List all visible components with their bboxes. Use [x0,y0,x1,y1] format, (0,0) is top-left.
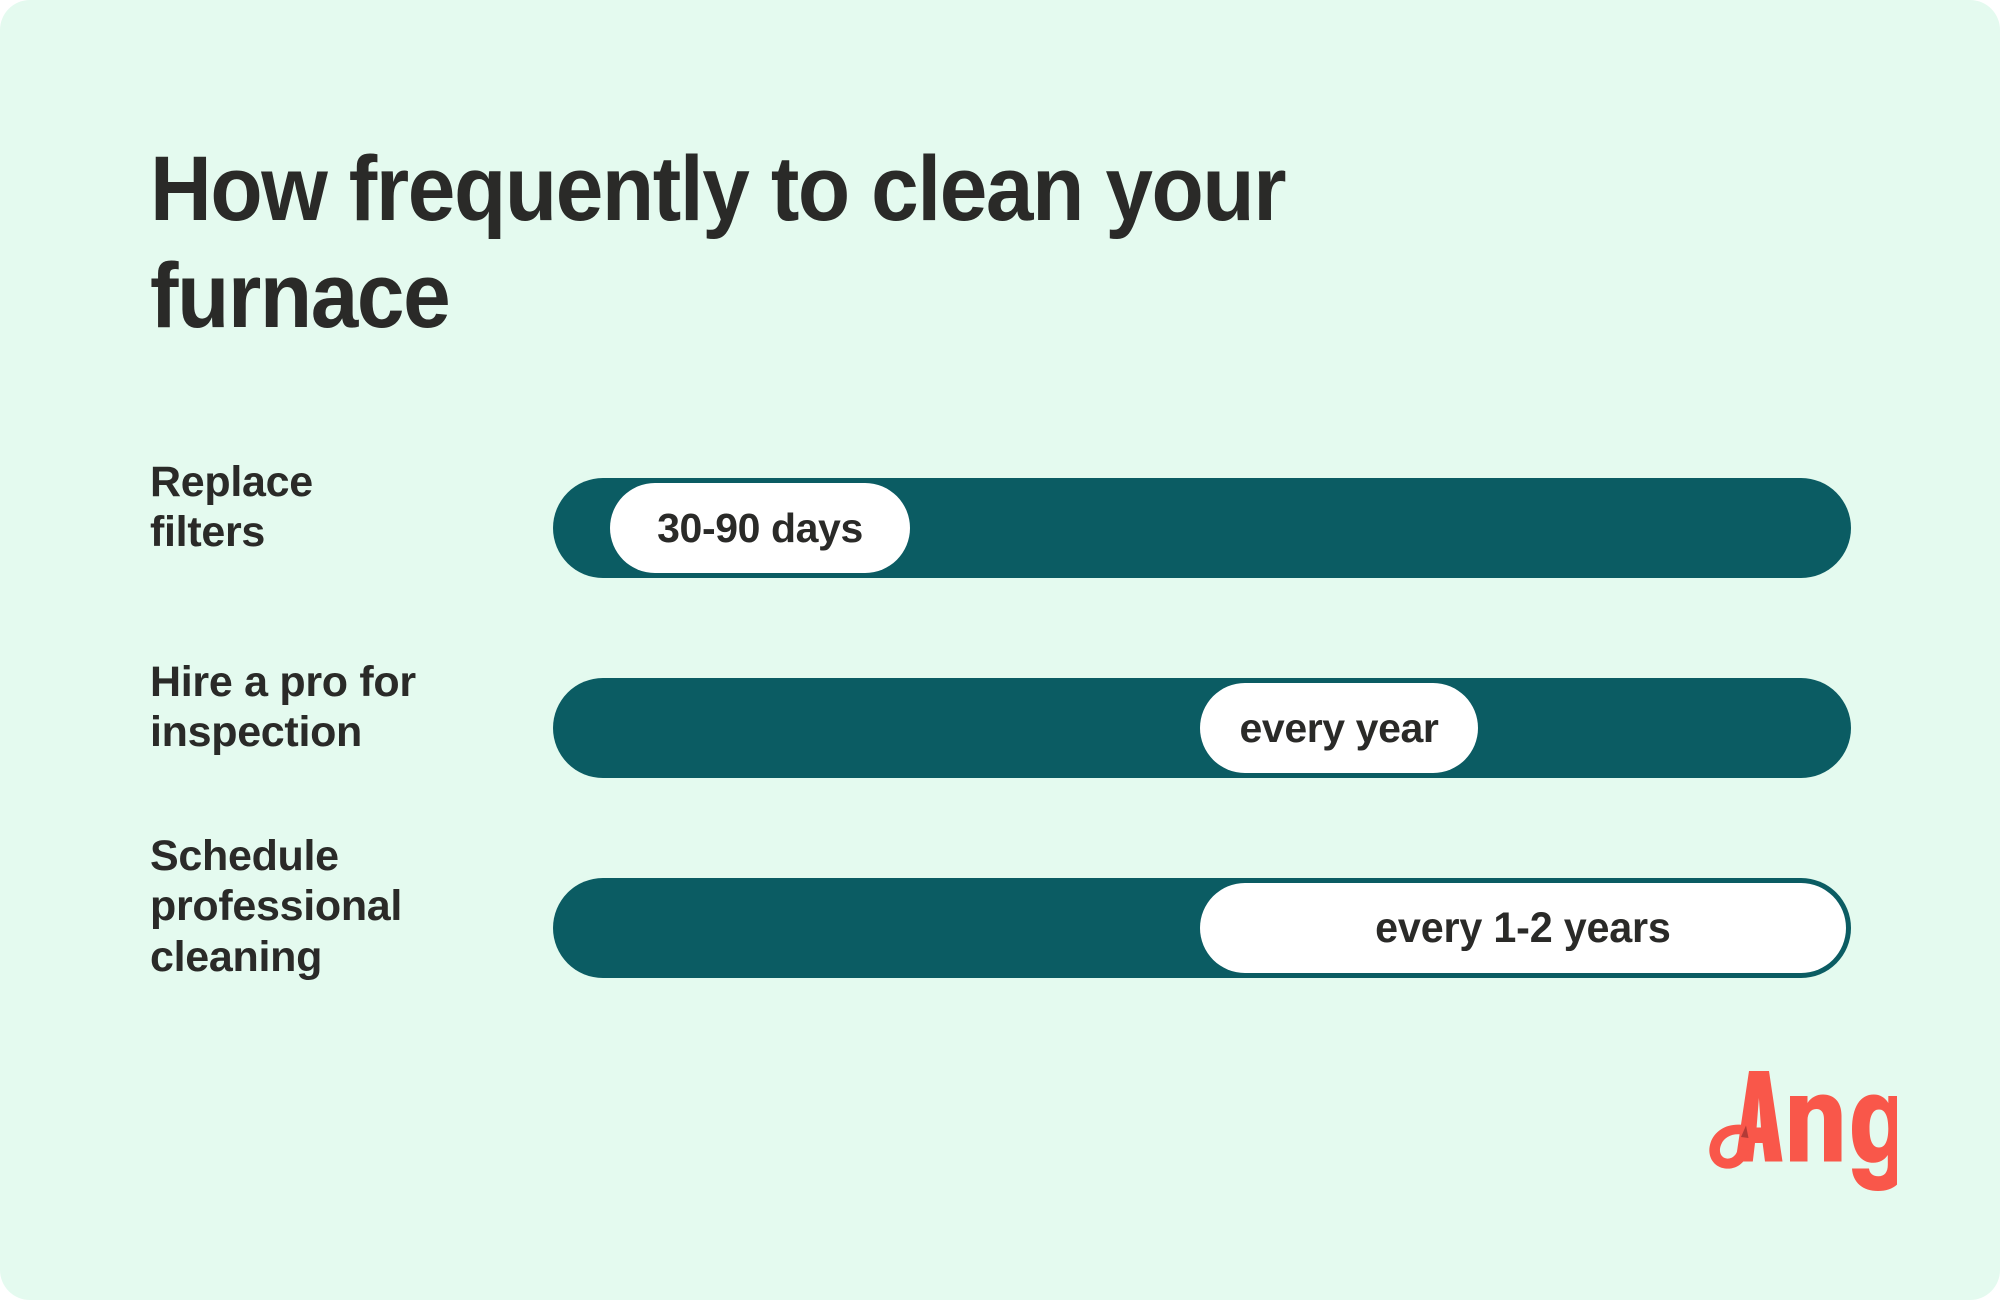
row-label: Schedule professional cleaning [150,831,520,982]
bar-value-pill: 30-90 days [610,483,910,573]
chart-row-replace-filters: Replace filters 30-90 days [0,478,2000,578]
infographic-canvas: How frequently to clean your furnace Rep… [0,0,2000,1300]
row-label: Replace filters [150,457,520,558]
angi-logo [1697,1065,1897,1195]
bar-value-text: every year [1240,705,1439,752]
row-label: Hire a pro for inspection [150,657,520,758]
bar-track: every year [553,678,1851,778]
bar-track: every 1-2 years [553,878,1851,978]
bar-value-text: every 1-2 years [1375,904,1671,953]
bar-value-pill: every 1-2 years [1200,883,1846,973]
chart-row-schedule-professional-cleaning: Schedule professional cleaning every 1-2… [0,878,2000,978]
page-title: How frequently to clean your furnace [150,136,1545,349]
bar-value-pill: every year [1200,683,1478,773]
bar-track: 30-90 days [553,478,1851,578]
bar-value-text: 30-90 days [657,505,863,552]
chart-row-hire-a-pro-for-inspection: Hire a pro for inspection every year [0,678,2000,778]
angi-wordmark-icon [1697,1065,1897,1195]
